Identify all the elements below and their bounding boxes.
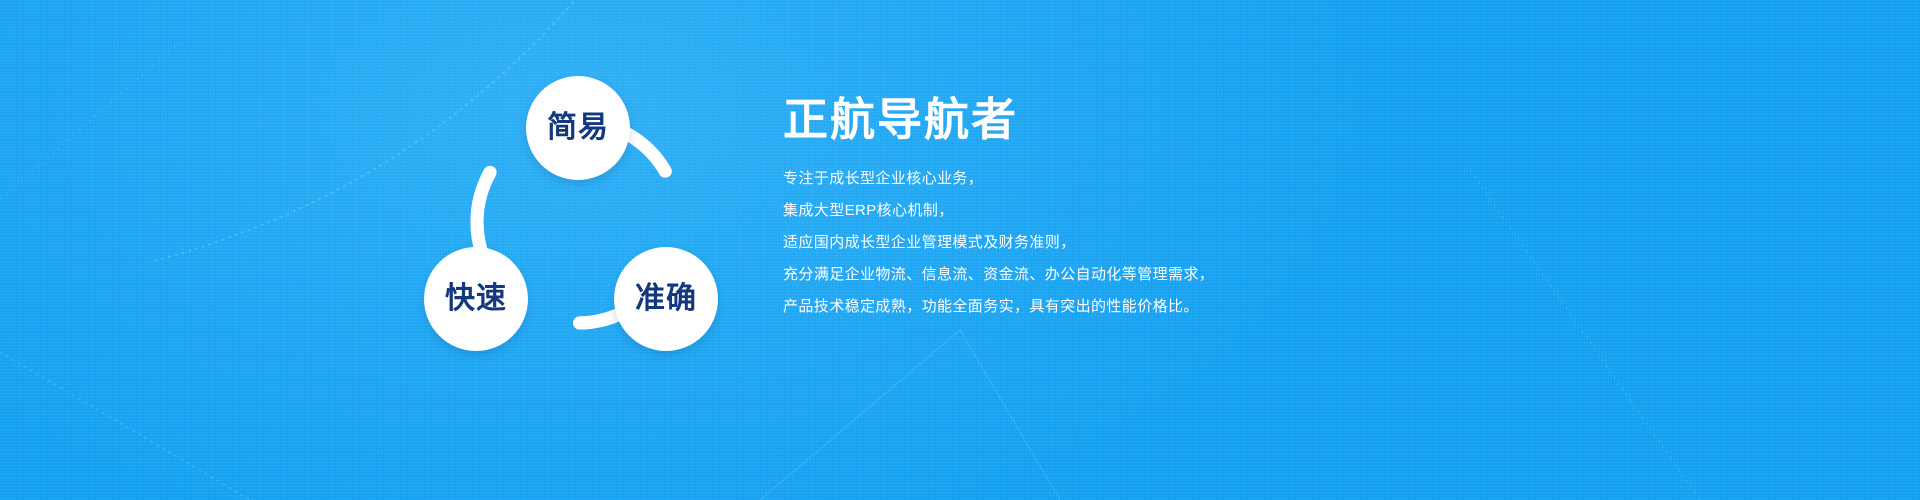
diagram-node-label: 快速 — [445, 284, 507, 314]
banner-description-line: 充分满足企业物流、信息流、资金流、办公自动化等管理需求， — [783, 267, 1483, 282]
banner-copy: 正航导航者 专注于成长型企业核心业务， 集成大型ERP核心机制， 适应国内成长型… — [783, 95, 1483, 314]
diagram-node-accurate[interactable]: 准确 — [614, 247, 718, 351]
banner-headline: 正航导航者 — [783, 95, 1483, 145]
diagram-node-label: 准确 — [635, 284, 697, 314]
banner-description-line: 集成大型ERP核心机制， — [783, 203, 1483, 218]
concept-diagram: 简易 快速 准确 — [400, 55, 760, 365]
diagram-node-fast[interactable]: 快速 — [424, 247, 528, 351]
banner-description-line: 专注于成长型企业核心业务， — [783, 171, 1483, 186]
banner-description-line: 产品技术稳定成熟，功能全面务实，具有突出的性能价格比。 — [783, 299, 1483, 314]
promo-banner: 简易 快速 准确 正航导航者 专注于成长型企业核心业务， 集成大型ERP核心机制… — [0, 0, 1920, 500]
banner-description-line: 适应国内成长型企业管理模式及财务准则， — [783, 235, 1483, 250]
diagram-node-simple[interactable]: 简易 — [526, 76, 630, 180]
diagram-node-label: 简易 — [547, 113, 609, 143]
